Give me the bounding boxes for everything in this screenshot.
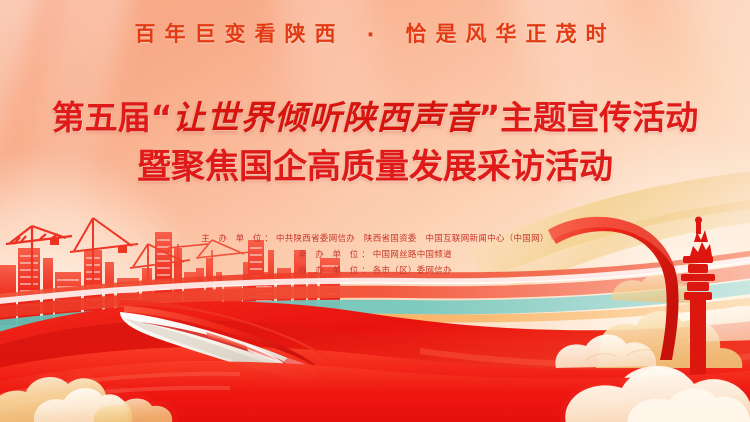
page-title: 第五届“让世界倾听陕西声音”主题宣传活动 暨聚焦国企高质量发展采访活动 <box>0 96 750 190</box>
title-suffix: ”主题宣传活动 <box>479 98 699 137</box>
organizer-row: 协 办 单 位：各市（区）委网信办 <box>0 263 750 279</box>
organizer-value: 中国网丝路中国频道 <box>373 250 452 260</box>
title-prefix: 第五届“ <box>52 98 173 137</box>
organizer-label: 协 办 单 位： <box>298 266 373 276</box>
poster-banner: 百年巨变看陕西·恰是风华正茂时 第五届“让世界倾听陕西声音”主题宣传活动 暨聚焦… <box>0 0 750 422</box>
headline-right: 恰是风华正茂时 <box>405 22 615 46</box>
title-line-2: 暨聚焦国企高质量发展采访活动 <box>0 144 750 190</box>
glow-left <box>0 150 210 422</box>
title-line-1: 第五届“让世界倾听陕西声音”主题宣传活动 <box>0 96 750 140</box>
title-slogan-brush: 让世界倾听陕西声音 <box>173 98 479 137</box>
organizers-block: 主 办 单 位：中共陕西省委网信办 陕西省国资委 中国互联网新闻中心（中国网） … <box>0 231 750 279</box>
organizer-row: 主 办 单 位：中共陕西省委网信办 陕西省国资委 中国互联网新闻中心（中国网） <box>0 231 750 247</box>
headline-left: 百年巨变看陕西 <box>135 22 345 46</box>
headline-text: 百年巨变看陕西·恰是风华正茂时 <box>0 18 750 48</box>
organizer-value: 各市（区）委网信办 <box>373 266 452 276</box>
organizer-label: 承 办 单 位： <box>298 250 373 260</box>
organizer-label: 主 办 单 位： <box>201 234 276 244</box>
headline-separator-dot: · <box>367 23 384 47</box>
headline-band: 百年巨变看陕西·恰是风华正茂时 <box>0 18 750 48</box>
organizer-row: 承 办 单 位：中国网丝路中国频道 <box>0 247 750 263</box>
organizer-value: 中共陕西省委网信办 陕西省国资委 中国互联网新闻中心（中国网） <box>276 234 549 244</box>
